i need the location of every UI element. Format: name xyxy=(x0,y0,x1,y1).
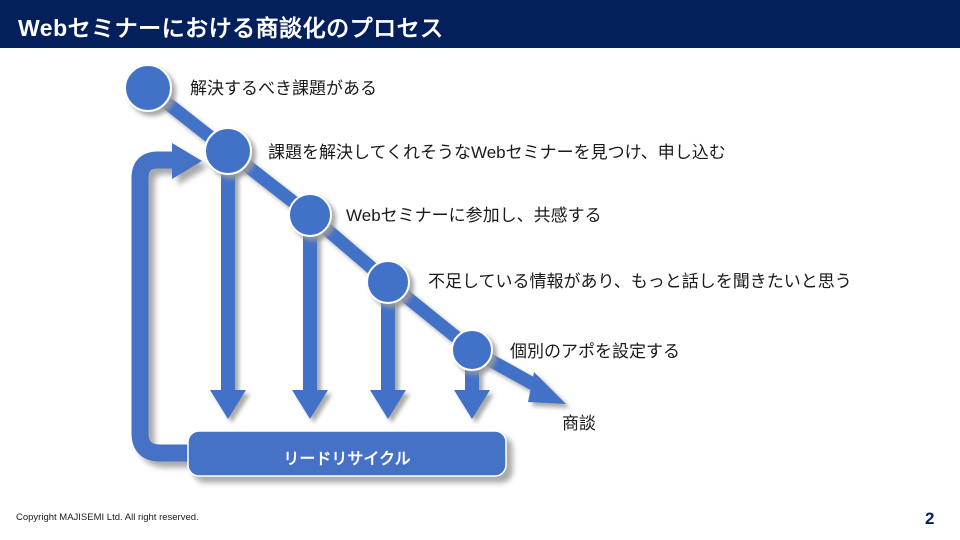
step-label-5: 個別のアポを設定する xyxy=(510,343,680,360)
copyright-text: Copyright MAJISEMI Ltd. All right reserv… xyxy=(16,512,199,523)
recycle-box-label: リードリサイクル xyxy=(188,445,506,469)
step-node-2 xyxy=(205,128,251,174)
drop-arrow-step-3 xyxy=(292,215,328,419)
step-label-2: 課題を解決してくれそうなWebセミナーを見つけ、申し込む xyxy=(268,144,726,161)
step-label-4: 不足している情報があり、もっと話しを聞きたいと思う xyxy=(428,273,852,290)
drop-arrow-step-2 xyxy=(210,151,246,419)
step-node-4 xyxy=(367,261,409,303)
process-flow-diagram: 解決するべき課題がある 課題を解決してくれそうなWebセミナーを見つけ、申し込む… xyxy=(0,0,960,540)
terminal-label: 商談 xyxy=(562,415,596,432)
slide: Webセミナーにおける商談化のプロセス xyxy=(0,0,960,540)
step-node-1 xyxy=(125,65,171,111)
step-node-3 xyxy=(289,194,331,236)
step-label-1: 解決するべき課題がある xyxy=(190,80,377,97)
step-label-3: Webセミナーに参加し、共感する xyxy=(346,207,602,224)
page-number: 2 xyxy=(925,509,934,529)
step-node-5 xyxy=(452,330,492,370)
